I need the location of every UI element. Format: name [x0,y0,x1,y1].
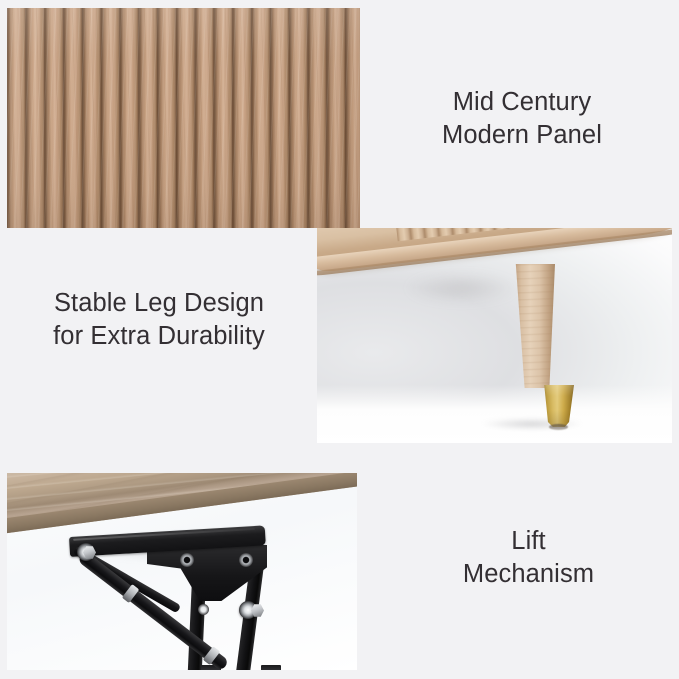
leg-floor-shadow [467,416,597,432]
support-arm-foot-right [261,665,281,670]
feature-photo-stable-leg-design [317,228,672,443]
tabletop-cast-shadow [387,268,537,308]
strut-collar-upper [122,584,139,603]
leg-floor-contact [549,424,568,430]
feature-photo-mid-century-modern-panel [7,8,360,228]
floor-surface [317,385,672,443]
feature-caption-stable-leg-design: Stable Leg Design for Extra Durability [4,287,314,352]
feature-caption-mid-century-modern-panel: Mid Century Modern Panel [372,86,672,151]
feature-caption-lift-mechanism: Lift Mechanism [386,525,671,590]
feature-photo-lift-mechanism [7,473,357,670]
infographic-canvas: Mid Century Modern Panel Stable Leg Desi… [0,0,679,679]
panel-lighting-overlay [7,8,360,228]
bracket-eyelet-right [239,553,253,567]
bracket-hole [198,604,209,615]
strut-collar-lower [203,646,220,665]
bracket-eyelet-left [180,553,194,567]
